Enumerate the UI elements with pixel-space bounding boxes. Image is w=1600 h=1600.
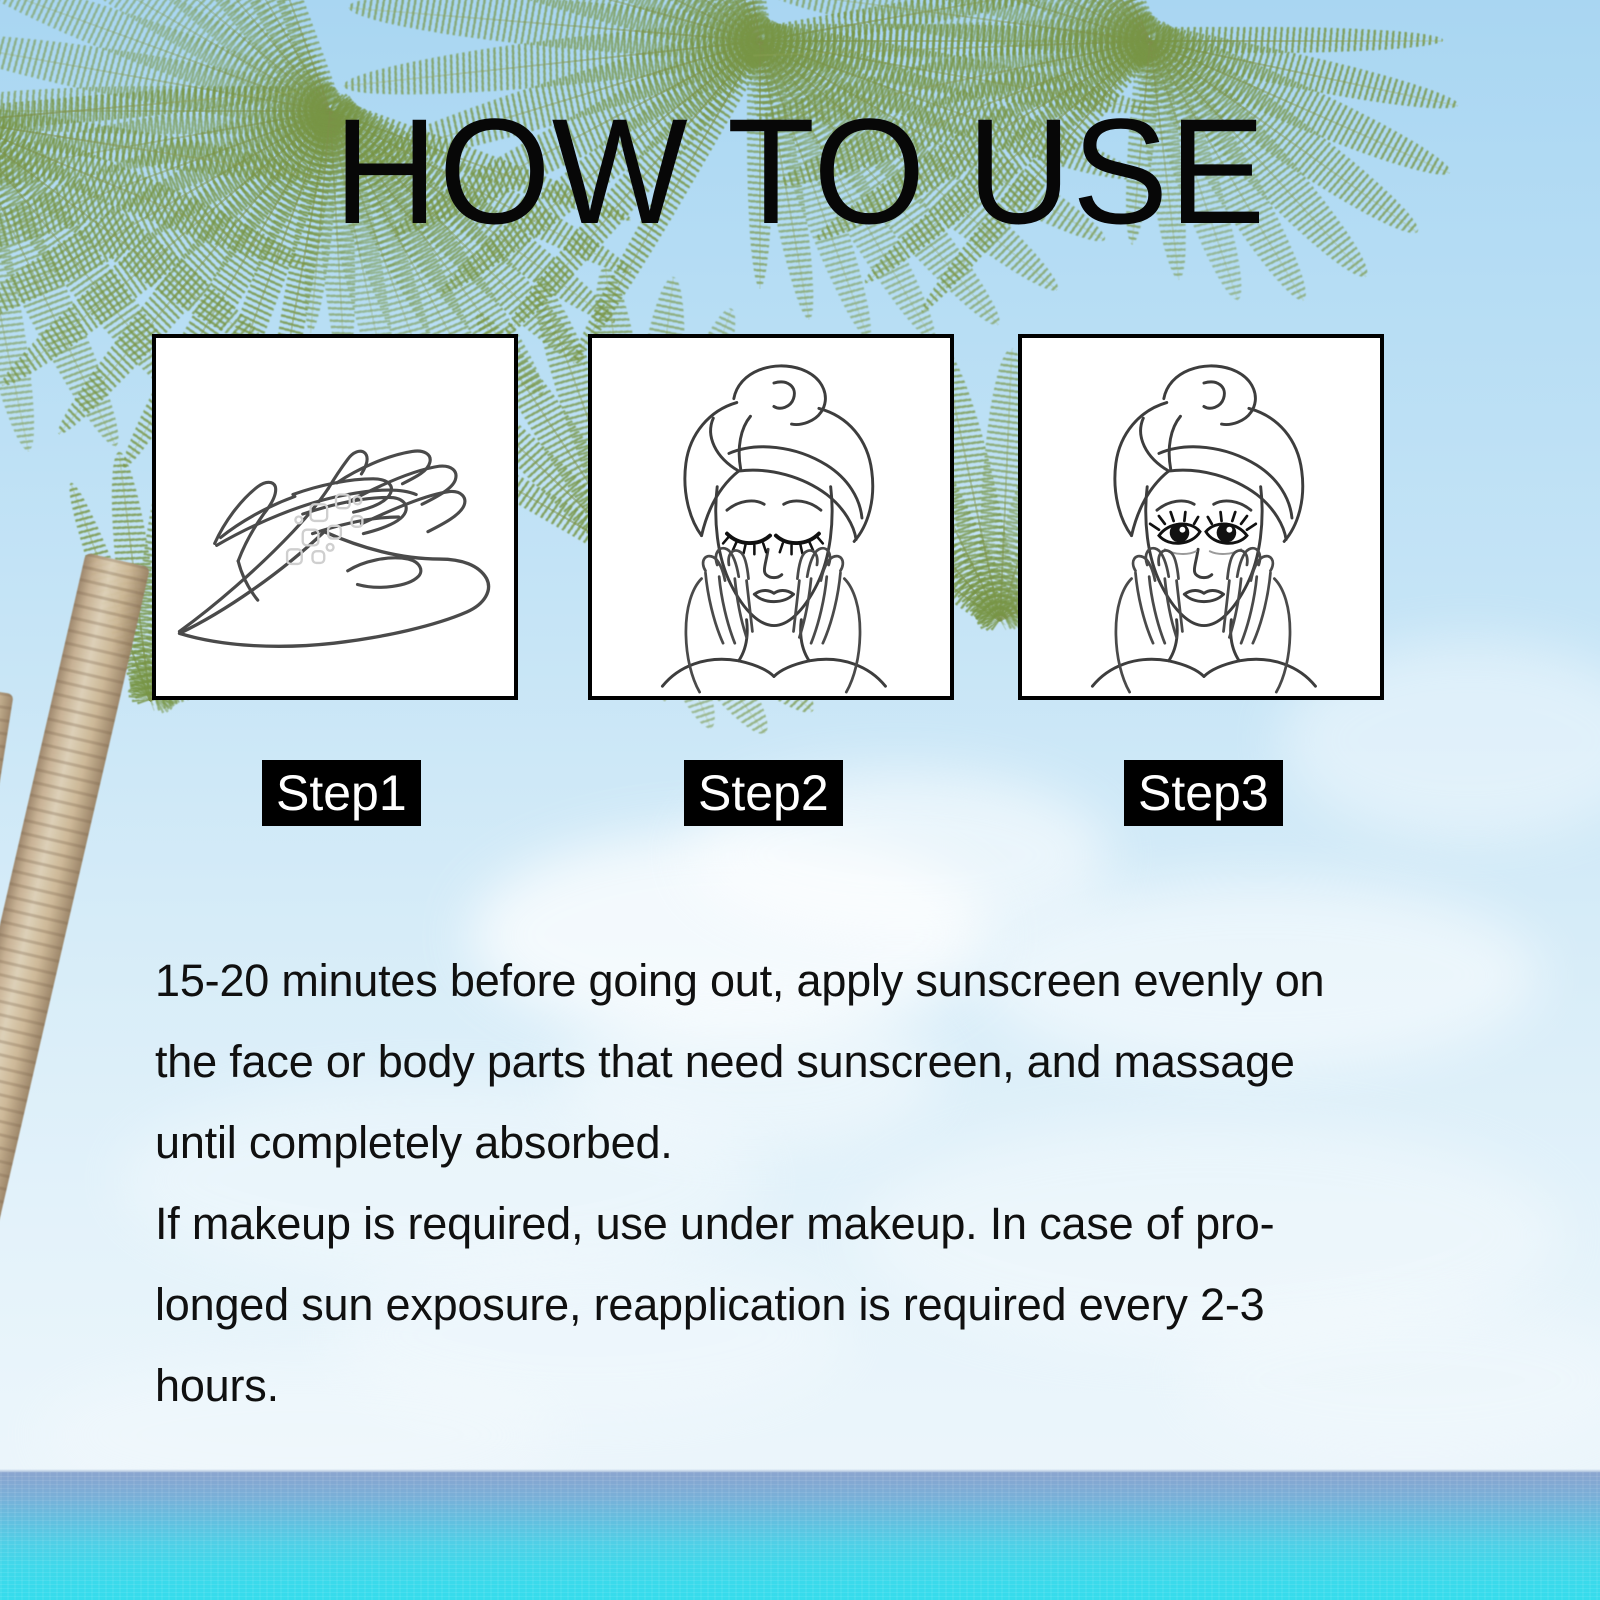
instruction-line: 15-20 minutes before going out, apply su… [155,940,1415,1021]
step-panel-3 [1018,334,1384,700]
eye-open-left [1159,523,1200,543]
woman-face-eyes-closed-hands-on-cheeks-icon [592,338,950,696]
step-panels [0,334,1600,704]
instruction-line: hours. [155,1345,1415,1426]
instruction-line: longed sun exposure, reapplication is re… [155,1264,1415,1345]
instruction-text: 15-20 minutes before going out, apply su… [155,940,1415,1426]
step-2-illustration-frame [588,334,954,700]
step-label-1: Step1 [262,760,421,826]
step-labels: Step1 Step2 Step3 [0,760,1600,830]
woman-face-eyes-open-hands-on-cheeks-icon [1022,338,1380,696]
instruction-line: If makeup is required, use under makeup.… [155,1183,1415,1264]
step-label-3: Step3 [1124,760,1283,826]
step-1-illustration-frame [152,334,518,700]
how-to-use-poster: HOW TO USE [0,0,1600,1600]
eye-open-right [1206,523,1247,543]
instruction-line: until completely absorbed. [155,1102,1415,1183]
instruction-line: the face or body parts that need sunscre… [155,1021,1415,1102]
step-panel-1 [152,334,518,700]
page-title: HOW TO USE [32,96,1568,246]
two-hands-rubbing-together-icon [156,338,514,696]
step-panel-2 [588,334,954,700]
ocean-band [0,1472,1600,1600]
step-3-illustration-frame [1018,334,1384,700]
step-label-2: Step2 [684,760,843,826]
